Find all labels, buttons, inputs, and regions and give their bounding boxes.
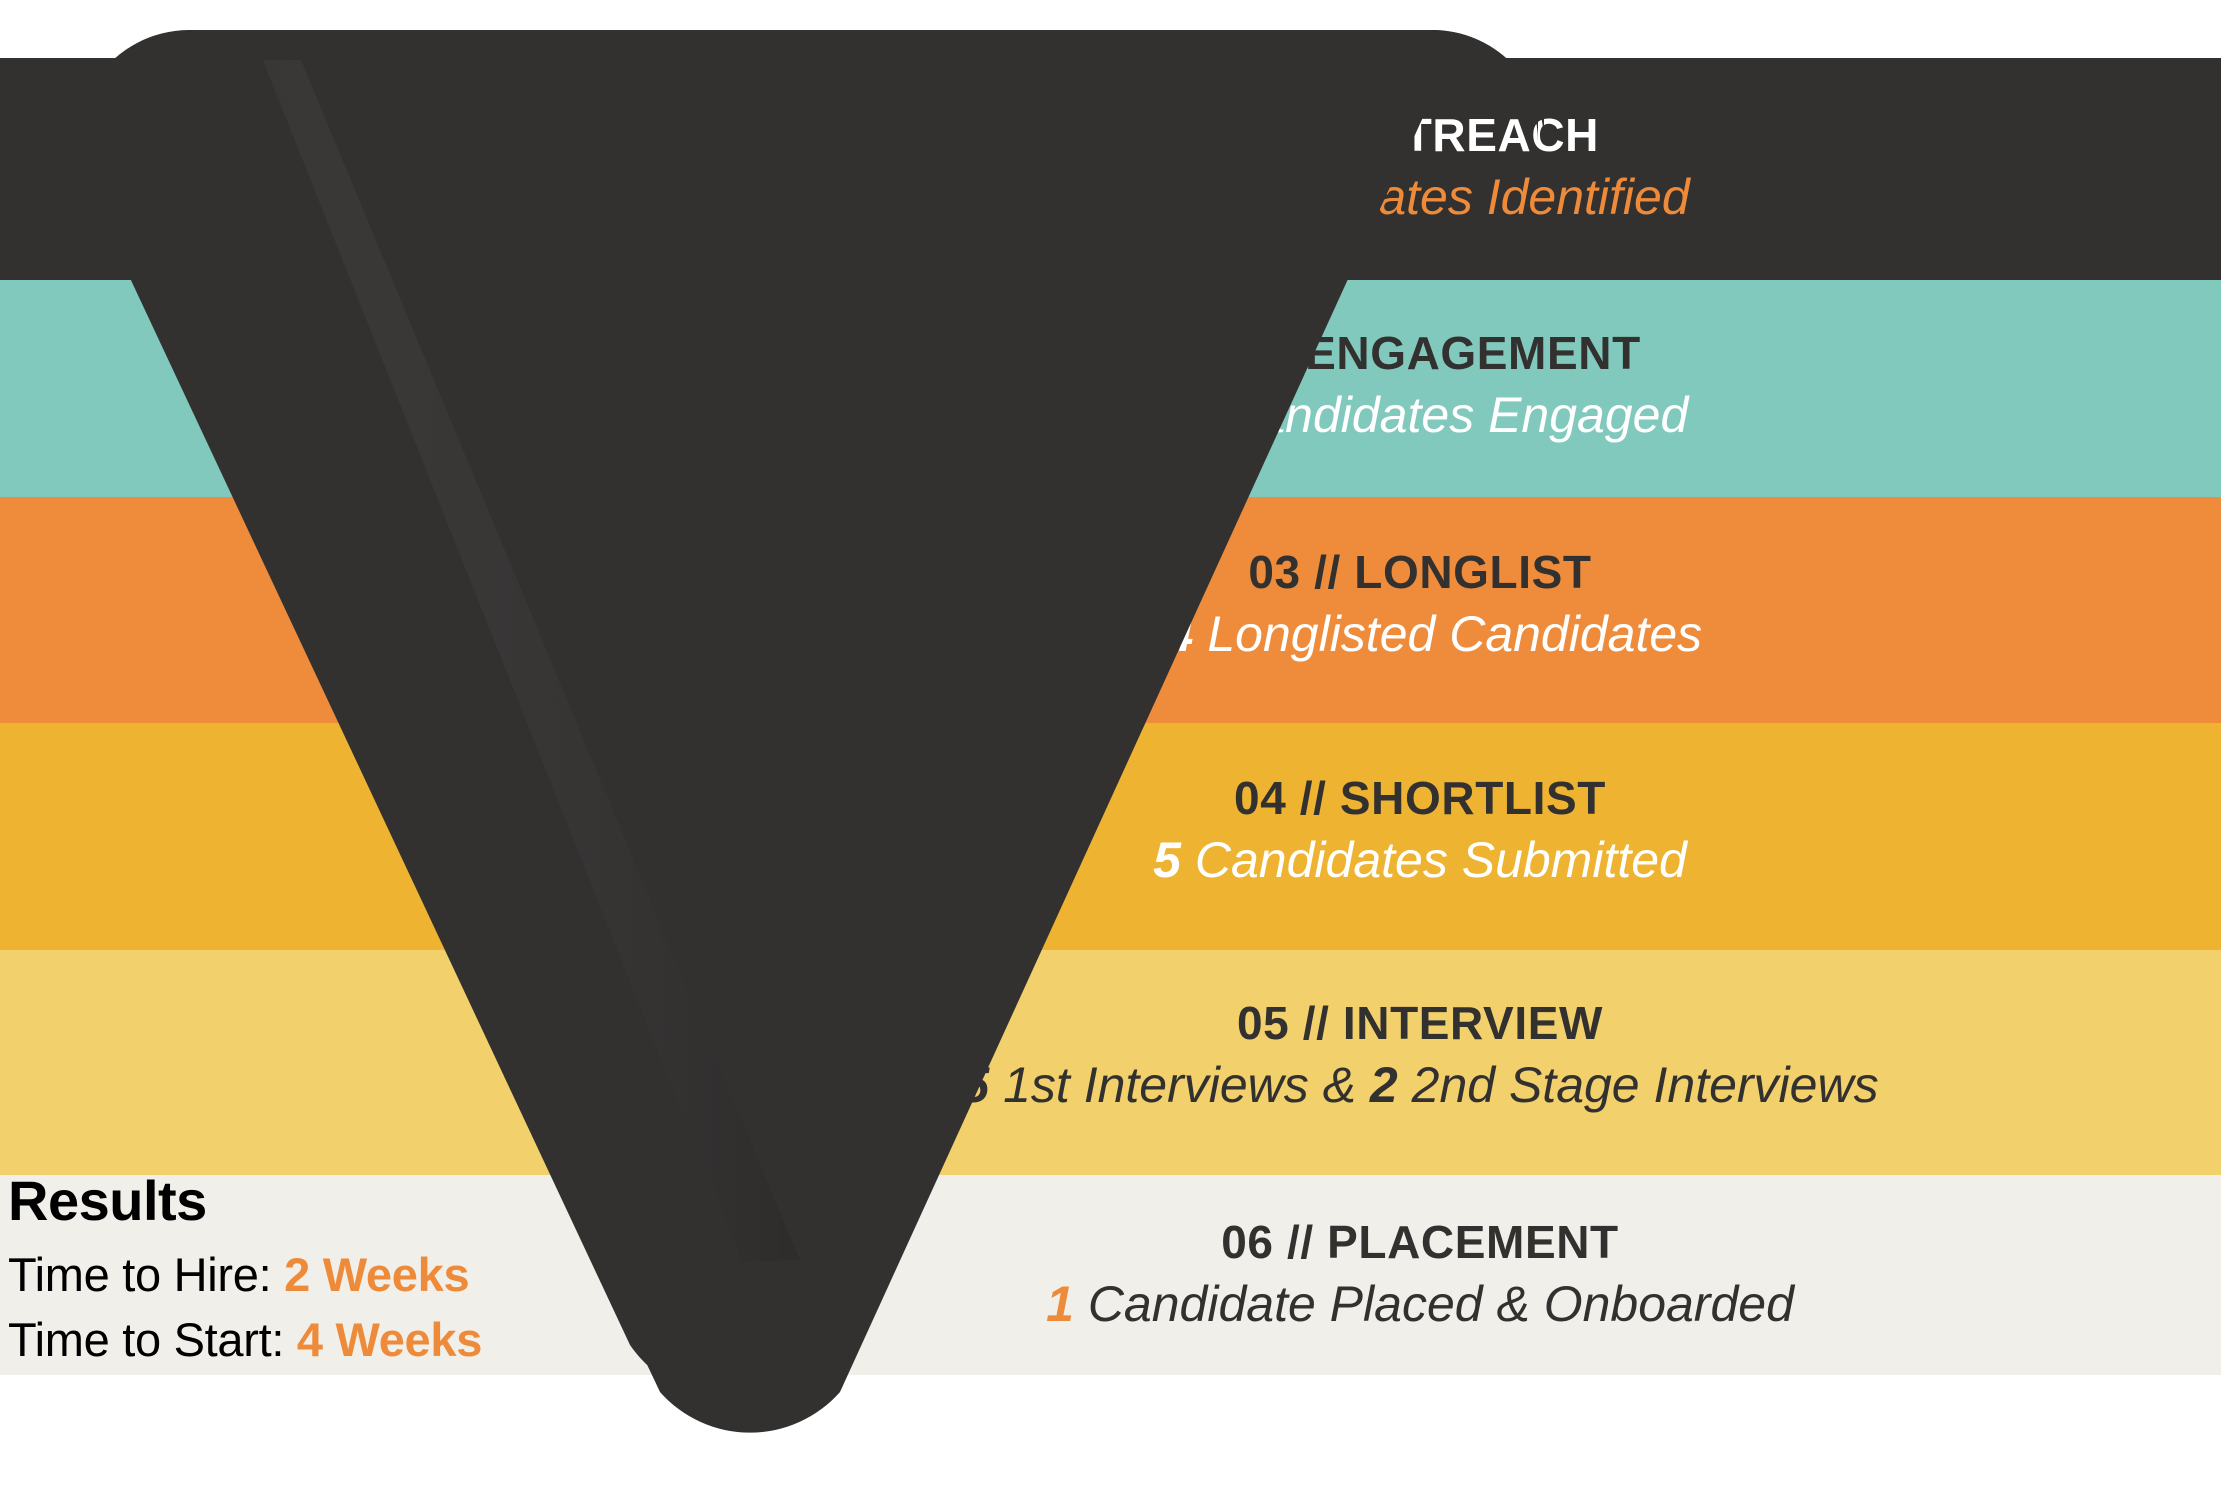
band-count-longlist: 14 xyxy=(1138,606,1194,662)
result-row-time-to-hire: Time to Hire: 2 Weeks xyxy=(8,1247,608,1302)
band-count-label-placement: Candidate Placed & Onboarded xyxy=(1088,1276,1794,1332)
result-value-time-to-hire: 2 Weeks xyxy=(284,1248,469,1301)
results-heading: Results xyxy=(8,1168,608,1233)
band-subtitle-placement: 1 Candidate Placed & Onboarded xyxy=(640,1279,2200,1329)
band-count-label-interview-first: 1st Interviews & xyxy=(1003,1057,1356,1113)
band-count-shortlist: 5 xyxy=(1153,832,1181,888)
band-count-label-longlist: Longlisted Candidates xyxy=(1207,606,1702,662)
result-value-time-to-start: 4 Weeks xyxy=(297,1313,482,1366)
result-label-time-to-hire: Time to Hire: xyxy=(8,1248,271,1301)
band-count-placement: 1 xyxy=(1046,1276,1074,1332)
band-title-engagement: 02 // ENGAGEMENT xyxy=(640,330,2200,376)
band-text-placement: 06 // PLACEMENT 1 Candidate Placed & Onb… xyxy=(640,1219,2200,1329)
band-subtitle-outreach: 62 Candidates Identified xyxy=(640,172,2200,222)
band-title-longlist: 03 // LONGLIST xyxy=(640,549,2200,595)
result-label-time-to-start: Time to Start: xyxy=(8,1313,284,1366)
funnel-band-interview: 05 // INTERVIEW 5 1st Interviews & 2 2nd… xyxy=(0,950,2221,1175)
result-row-time-to-start: Time to Start: 4 Weeks xyxy=(8,1312,608,1367)
band-text-longlist: 03 // LONGLIST 14 Longlisted Candidates xyxy=(640,549,2200,659)
band-count-label-outreach: Candidates Identified xyxy=(1220,169,1690,225)
band-title-placement: 06 // PLACEMENT xyxy=(640,1219,2200,1265)
results-block: Results Time to Hire: 2 Weeks Time to St… xyxy=(8,1168,608,1377)
band-text-interview: 05 // INTERVIEW 5 1st Interviews & 2 2nd… xyxy=(640,1000,2200,1110)
band-text-shortlist: 04 // SHORTLIST 5 Candidates Submitted xyxy=(640,775,2200,885)
band-count-outreach: 62 xyxy=(1150,169,1206,225)
band-text-engagement: 02 // ENGAGEMENT 44 Candidates Engaged xyxy=(640,330,2200,440)
band-subtitle-shortlist: 5 Candidates Submitted xyxy=(640,835,2200,885)
band-title-outreach: 01// OUTREACH xyxy=(640,112,2200,158)
funnel-band-outreach: 01// OUTREACH 62 Candidates Identified xyxy=(0,58,2221,280)
band-subtitle-longlist: 14 Longlisted Candidates xyxy=(640,609,2200,659)
band-title-interview: 05 // INTERVIEW xyxy=(640,1000,2200,1046)
band-title-shortlist: 04 // SHORTLIST xyxy=(640,775,2200,821)
band-count-engagement: 44 xyxy=(1152,387,1208,443)
funnel-band-engagement: 02 // ENGAGEMENT 44 Candidates Engaged xyxy=(0,280,2221,497)
band-count-interview-second: 2 xyxy=(1370,1057,1398,1113)
band-count-label-interview-second: 2nd Stage Interviews xyxy=(1412,1057,1879,1113)
band-count-label-engagement: Candidates Engaged xyxy=(1221,387,1688,443)
funnel-band-shortlist: 04 // SHORTLIST 5 Candidates Submitted xyxy=(0,723,2221,950)
funnel-diagram: 01// OUTREACH 62 Candidates Identified 0… xyxy=(0,0,2221,1489)
band-subtitle-interview: 5 1st Interviews & 2 2nd Stage Interview… xyxy=(640,1060,2200,1110)
band-count-label-shortlist: Candidates Submitted xyxy=(1195,832,1687,888)
band-subtitle-engagement: 44 Candidates Engaged xyxy=(640,390,2200,440)
band-text-outreach: 01// OUTREACH 62 Candidates Identified xyxy=(640,112,2200,222)
band-count-interview-first: 5 xyxy=(961,1057,989,1113)
funnel-band-longlist: 03 // LONGLIST 14 Longlisted Candidates xyxy=(0,497,2221,723)
